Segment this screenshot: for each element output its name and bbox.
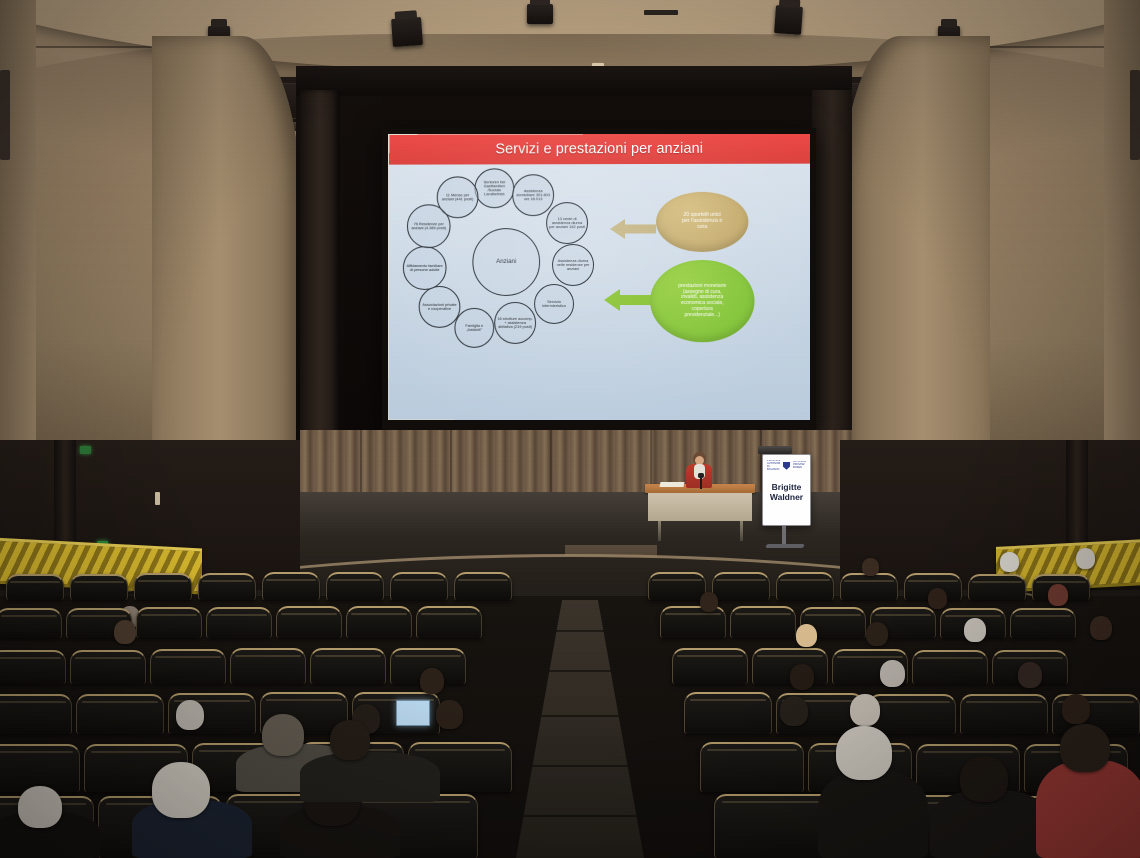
audience-head: [436, 700, 463, 729]
diagram-node: Associazioni private e cooperative: [419, 286, 461, 328]
ceiling-spotlight: [527, 4, 553, 24]
seat[interactable]: [76, 694, 164, 734]
audience-head: [1000, 552, 1019, 572]
callout-prestazioni: prestazioni monetarie (assegno di cura, …: [650, 260, 755, 342]
audience-head: [780, 696, 808, 726]
audience-head: [114, 620, 136, 644]
seat[interactable]: [672, 648, 748, 684]
service-circle-diagram: Anziani Senioren bei Gastfamilien /Socia…: [401, 170, 636, 360]
seat[interactable]: [968, 574, 1026, 600]
seat[interactable]: [346, 606, 412, 638]
audience-head: [928, 588, 947, 609]
audience-head: [862, 558, 879, 576]
crest-icon: [783, 462, 790, 470]
seat[interactable]: [660, 606, 726, 638]
speaker-name-sign: PROVINCIA AUTONOMA DI BOLZANO AUTONOME P…: [762, 454, 811, 526]
seat[interactable]: [684, 692, 772, 734]
seat[interactable]: [206, 607, 272, 638]
projection-screen: Servizi e prestazioni per anziani Anzian…: [382, 128, 816, 434]
audience-head: [1018, 662, 1042, 688]
diagram-node: 13 centri di assistenza diurna per anzia…: [546, 202, 588, 244]
seat[interactable]: [1010, 608, 1076, 638]
exit-sign-icon: [80, 446, 91, 454]
seat[interactable]: [0, 744, 80, 792]
audience-head: [1062, 694, 1090, 724]
stage-wing-left: [152, 36, 302, 472]
seat[interactable]: [70, 650, 146, 684]
audience-head: [262, 714, 304, 756]
seat[interactable]: [310, 648, 386, 684]
seat[interactable]: [0, 608, 62, 638]
audience-head: [866, 622, 888, 646]
seat[interactable]: [868, 694, 956, 734]
callout-line: previdenziale...): [678, 313, 726, 319]
diagram-node: Affidamento familiare di persone adulte: [403, 246, 447, 290]
ceiling-spotlight: [774, 5, 803, 35]
callout-arrow-green: [604, 286, 652, 314]
seat[interactable]: [390, 572, 448, 600]
microphone: [700, 476, 702, 489]
stage-wing-right: [840, 36, 990, 472]
proscenium-leg-left: [300, 90, 340, 460]
diagram-node: Famiglia e „badanti": [454, 308, 494, 348]
monitor-bracket: [758, 446, 792, 454]
wall-niche: [0, 70, 10, 160]
seat[interactable]: [198, 573, 256, 600]
audience-head: [960, 756, 1008, 802]
seat[interactable]: [912, 650, 988, 684]
audience-shoulders: [818, 770, 928, 858]
audience-head: [1060, 724, 1110, 772]
diagram-center-node: Anziani: [472, 228, 540, 296]
diagram-node: Senioren bei Gastfamilien /Sociale Landb…: [474, 168, 514, 208]
logo-text-left: PROVINCIA AUTONOMA DI BOLZANO: [767, 460, 780, 471]
seat[interactable]: [776, 572, 834, 600]
auditorium-photo: Servizi e prestazioni per anziani Anzian…: [0, 0, 1140, 858]
audience-head: [700, 592, 718, 612]
callout-line: cura: [682, 225, 722, 231]
seat[interactable]: [730, 606, 796, 638]
province-logo: PROVINCIA AUTONOMA DI BOLZANO AUTONOME P…: [767, 460, 806, 471]
seat[interactable]: [70, 574, 128, 600]
seat[interactable]: [6, 574, 64, 600]
audience-head: [790, 664, 814, 690]
audience-head: [18, 786, 62, 828]
seat[interactable]: [712, 572, 770, 600]
proscenium-header: [296, 66, 852, 96]
audience-laptop[interactable]: [396, 700, 430, 726]
seat-row: [0, 684, 1140, 734]
audience-head: [420, 668, 444, 694]
presenter-table-front: [648, 493, 752, 521]
seat[interactable]: [134, 573, 192, 600]
audience-head: [880, 660, 905, 687]
seat[interactable]: [262, 572, 320, 600]
audience-head: [176, 700, 204, 730]
sign-stand: [782, 526, 786, 546]
callout-sportelli: 20 sportelli unici per l'assistenza e cu…: [656, 192, 748, 252]
audience-head: [152, 762, 210, 818]
seat[interactable]: [326, 572, 384, 600]
proscenium-leg-right: [812, 90, 852, 460]
audience-head: [330, 720, 370, 760]
ceiling-vent: [644, 10, 678, 15]
table-leg: [658, 521, 661, 541]
wall-fixture: [155, 492, 160, 505]
seat[interactable]: [0, 694, 72, 734]
audience-shoulders: [300, 752, 440, 802]
audience-head: [796, 624, 817, 647]
speaker-last-name: Waldner: [770, 493, 803, 503]
seat[interactable]: [960, 694, 1048, 734]
audience-head: [964, 618, 986, 642]
seat[interactable]: [150, 649, 226, 684]
diagram-node: Assistenza diurna nelle residenze per an…: [552, 244, 594, 286]
seat-row: [0, 566, 1140, 600]
audience-head: [1076, 548, 1095, 569]
audience-head: [850, 694, 880, 726]
papers-on-table: [659, 482, 684, 487]
audience-head: [1090, 616, 1112, 640]
seat[interactable]: [700, 742, 804, 792]
audience-shoulders: [1036, 760, 1140, 858]
wall-niche: [1130, 70, 1140, 160]
seat[interactable]: [454, 572, 512, 600]
audience-head: [836, 726, 892, 780]
table-leg: [740, 521, 743, 541]
seat[interactable]: [0, 650, 66, 684]
audience-head: [1048, 584, 1068, 606]
logo-text-right: AUTONOME PROVINZ BOZEN: [793, 461, 806, 470]
seat[interactable]: [276, 606, 342, 638]
callout-arrow-tan: [610, 216, 656, 242]
seat[interactable]: [230, 648, 306, 684]
seat[interactable]: [136, 607, 202, 638]
speaker-person: [686, 452, 712, 488]
sign-base: [765, 544, 804, 548]
diagram-node: 11 Mense per anziani (441 posti): [437, 176, 479, 218]
diagram-node: Assistenza domiciliare 301.803 ore 18.01…: [512, 174, 554, 216]
seat[interactable]: [416, 606, 482, 638]
slide-title: Servizi e prestazioni per anziani: [389, 134, 810, 165]
ceiling-spotlight: [391, 17, 423, 47]
seat[interactable]: [648, 572, 706, 600]
seat-row: [0, 640, 1140, 684]
slide-body: Anziani Senioren bei Gastfamilien /Socia…: [389, 164, 810, 420]
seat[interactable]: [840, 573, 898, 600]
diagram-node: 16 strutture accomp. + assistenza abitat…: [494, 302, 536, 344]
diagram-node: Servizio infermieristico: [534, 284, 574, 324]
